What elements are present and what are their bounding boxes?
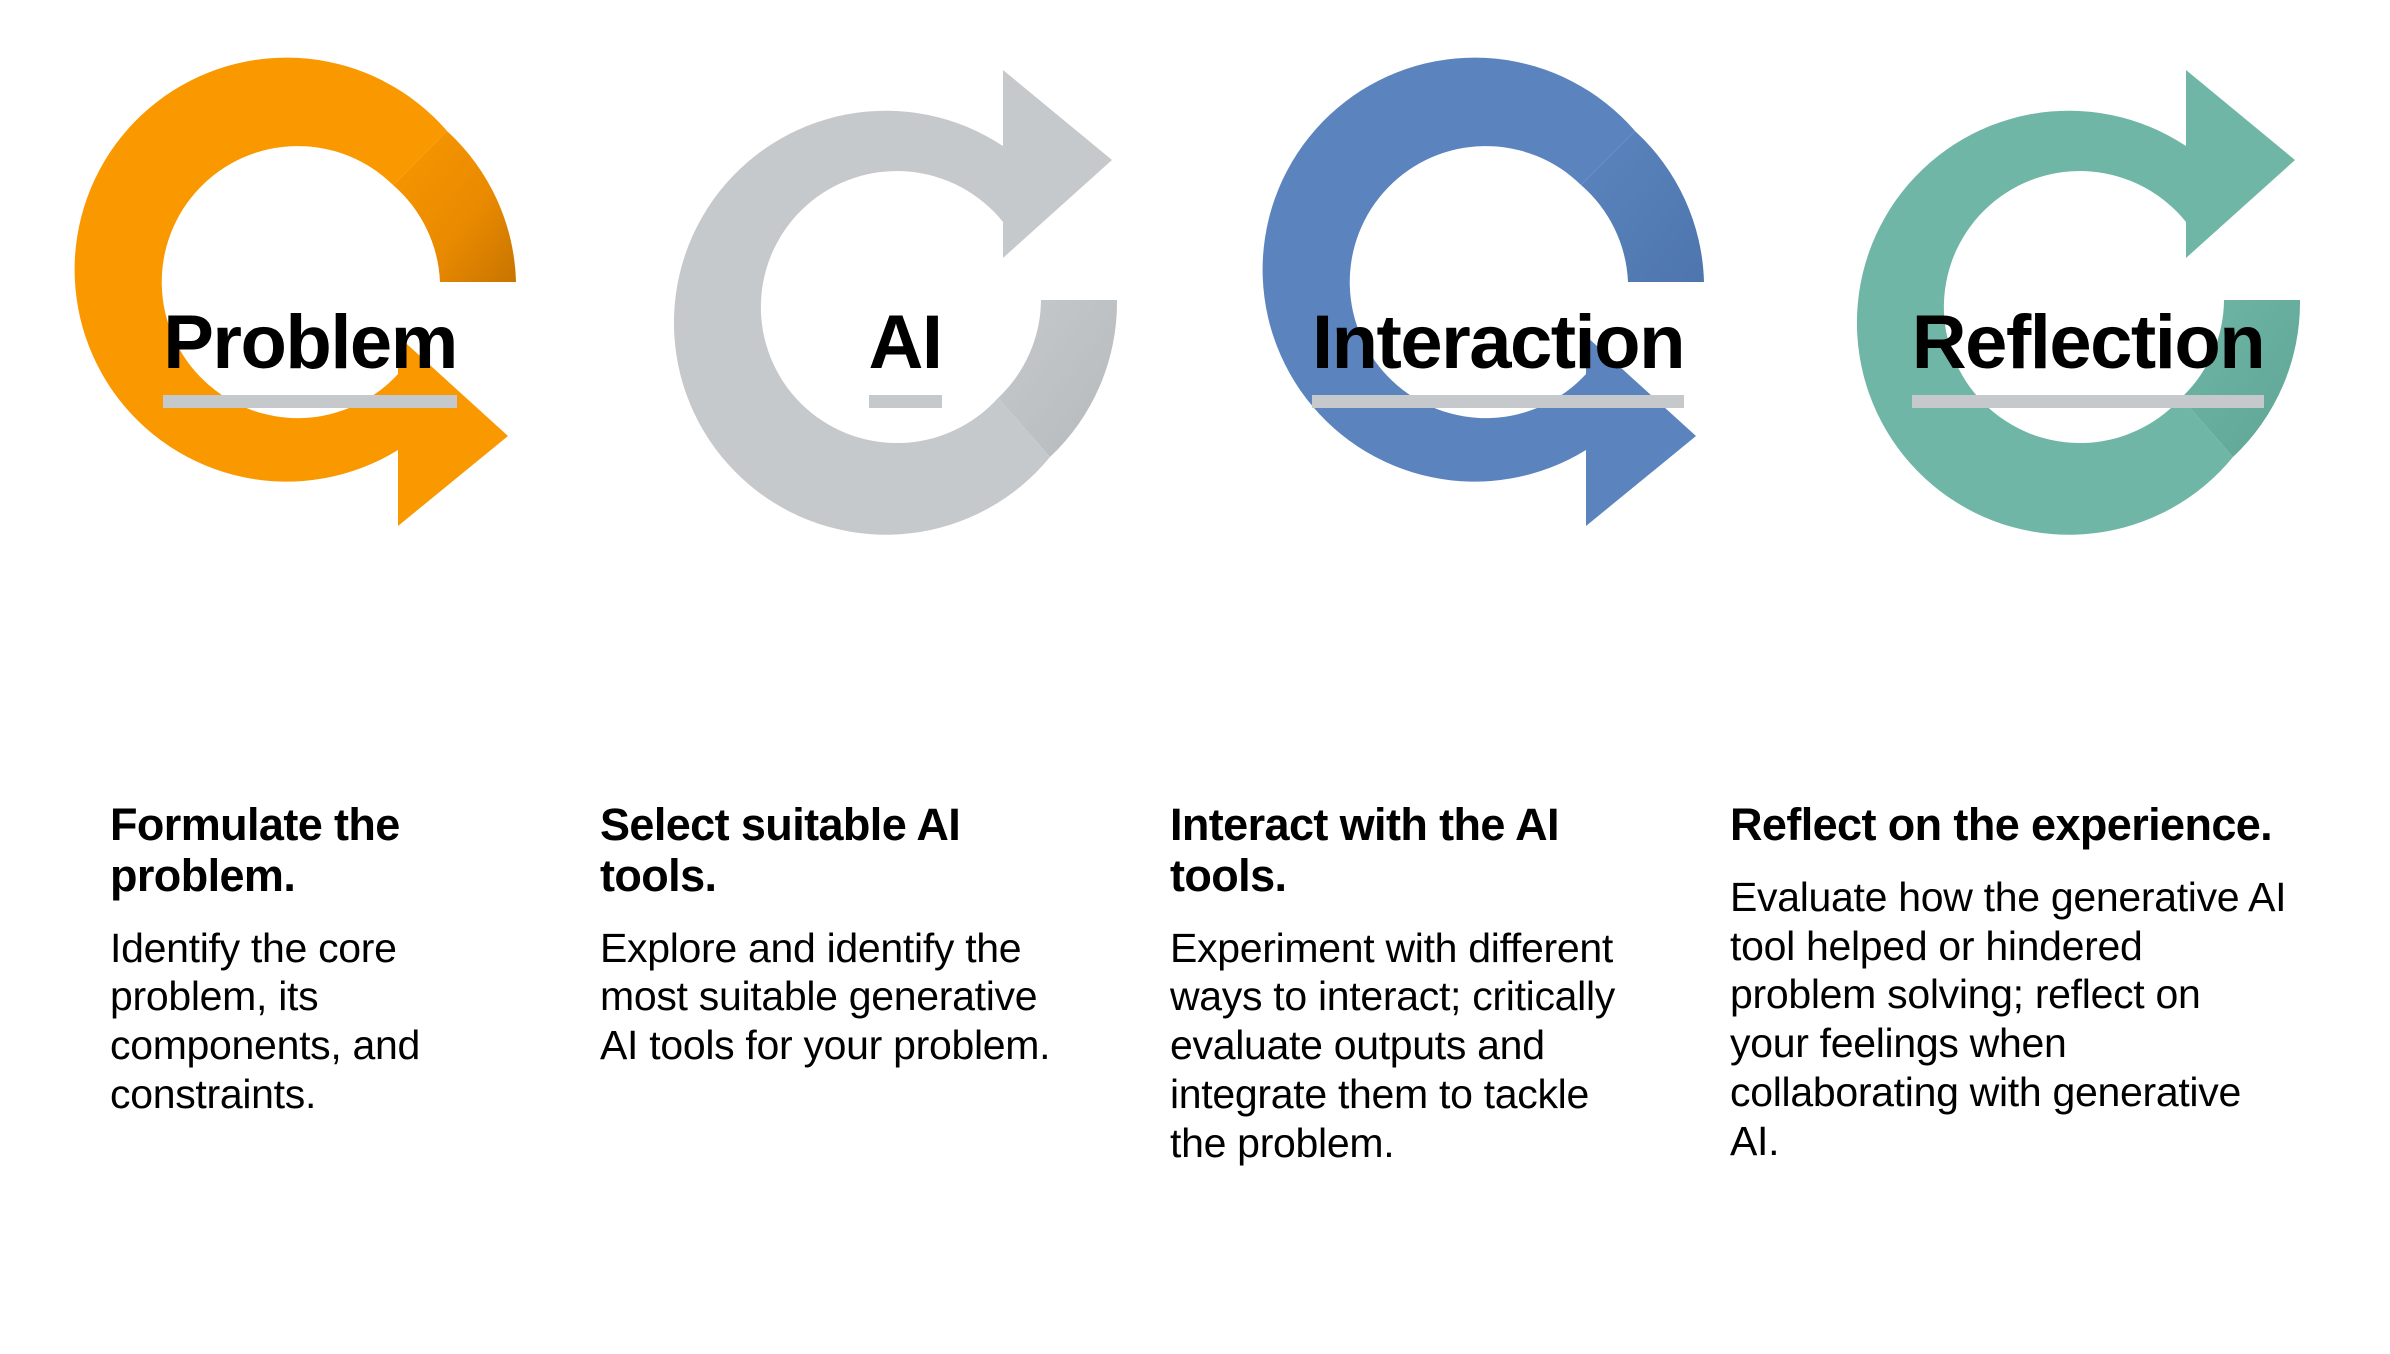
process-arrow-ring-group: [0, 0, 2390, 770]
stage-body-ai: Explore and identify the most suitable g…: [600, 924, 1070, 1070]
stage-column-ai: Select suitable AI tools. Explore and id…: [550, 800, 1110, 1070]
stage-heading-reflection: Reflect on the experience.: [1730, 800, 2290, 851]
stage-body-interaction: Experiment with different ways to intera…: [1170, 924, 1630, 1168]
stage-column-reflection: Reflect on the experience. Evaluate how …: [1670, 800, 2330, 1166]
stage-heading-ai: Select suitable AI tools.: [600, 800, 1070, 902]
stage-heading-interaction: Interact with the AI tools.: [1170, 800, 1630, 902]
stage-body-reflection: Evaluate how the generative AI tool help…: [1730, 873, 2290, 1166]
ring-arrow-reflection: [1857, 70, 2300, 535]
stage-column-problem: Formulate the problem. Identify the core…: [0, 800, 550, 1119]
stage-description-columns: Formulate the problem. Identify the core…: [0, 800, 2390, 1354]
stage-body-problem: Identify the core problem, its component…: [110, 924, 510, 1119]
diagram-canvas: Problem AI Interaction Reflection Formul…: [0, 0, 2390, 1354]
stage-heading-problem: Formulate the problem.: [110, 800, 510, 902]
ring-arrow-problem: [75, 58, 516, 526]
ring-arrow-ai: [674, 70, 1117, 535]
stage-column-interaction: Interact with the AI tools. Experiment w…: [1110, 800, 1670, 1168]
ring-arrow-interaction: [1263, 58, 1704, 526]
